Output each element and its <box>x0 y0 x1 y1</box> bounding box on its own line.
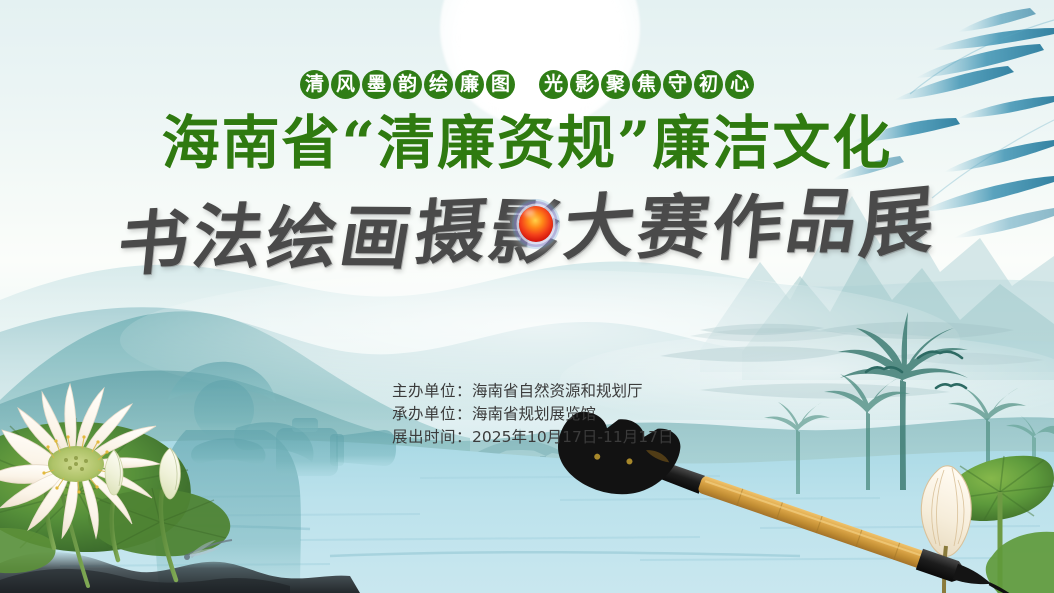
info-value: 2025年10月17日-11月17日 <box>472 428 673 446</box>
calligraphy-char: 作 <box>709 191 790 266</box>
lotus-bloom <box>0 384 160 538</box>
info-row-date: 展出时间：2025年10月17日-11月17日 <box>392 426 673 449</box>
ink-wash <box>660 322 1014 399</box>
subtitle-char: 焦 <box>632 70 661 99</box>
calligraphy-char: 书 <box>115 206 196 281</box>
subtitle-char: 聚 <box>601 70 630 99</box>
calligraphy-char: 品 <box>782 186 867 257</box>
calligraphy-char: 画 <box>335 203 420 274</box>
subtitle-char: 廉 <box>455 70 484 99</box>
info-label: 承办单位： <box>392 405 472 423</box>
info-label: 主办单位： <box>392 382 472 400</box>
info-value: 海南省自然资源和规划厅 <box>472 382 643 400</box>
subtitle-char: 风 <box>331 70 360 99</box>
lotus-bud-bloom <box>921 466 971 593</box>
info-row-organizer: 主办单位：海南省自然资源和规划厅 <box>392 380 673 403</box>
subtitle-left-group: 清 风 墨 韵 绘 廉 图 <box>300 70 515 99</box>
flying-birds <box>866 352 966 388</box>
subtitle-char: 光 <box>539 70 568 99</box>
subtitle-right-group: 光 影 聚 焦 守 初 心 <box>539 70 754 99</box>
subtitle-char: 图 <box>486 70 515 99</box>
calligraphy-char: 绘 <box>264 200 344 276</box>
calligraphy-char: 展 <box>857 182 941 264</box>
subtitle-char: 心 <box>725 70 754 99</box>
calligraphy-char: 大 <box>561 190 642 265</box>
poster-canvas: 清 风 墨 韵 绘 廉 图 光 影 聚 焦 守 初 心 海南省“清廉资规”廉洁文… <box>0 0 1054 593</box>
lotus-leaves <box>0 418 230 573</box>
calligraphy-char: 摄 <box>412 195 494 268</box>
subtitle-char: 墨 <box>362 70 391 99</box>
subtitle-char: 守 <box>663 70 692 99</box>
palm-small <box>764 402 830 494</box>
calligraphy-char: 赛 <box>633 192 717 263</box>
subtitle-char: 韵 <box>393 70 422 99</box>
palm-far <box>1006 414 1054 494</box>
calligraphy-char: 法 <box>188 202 272 273</box>
info-label: 展出时间： <box>392 428 472 446</box>
camera-shutter-icon <box>519 206 553 242</box>
dragonfly <box>184 540 232 560</box>
event-info: 主办单位：海南省自然资源和规划厅 承办单位：海南省规划展览馆 展出时间：2025… <box>392 380 673 449</box>
palm-left <box>824 374 910 490</box>
subtitle-badges: 清 风 墨 韵 绘 廉 图 光 影 聚 焦 守 初 心 <box>0 70 1054 99</box>
subtitle-char: 绘 <box>424 70 453 99</box>
page-title: 海南省“清廉资规”廉洁文化 <box>0 110 1054 177</box>
info-value: 海南省规划展览馆 <box>472 405 596 423</box>
info-row-host: 承办单位：海南省规划展览馆 <box>392 403 673 426</box>
lotus-stems <box>46 478 176 586</box>
lotus-bud <box>105 448 180 499</box>
palm-tall <box>838 312 968 490</box>
subtitle-char: 清 <box>300 70 329 99</box>
palm-right <box>948 388 1026 492</box>
subtitle-char: 初 <box>694 70 723 99</box>
subtitle-char: 影 <box>570 70 599 99</box>
